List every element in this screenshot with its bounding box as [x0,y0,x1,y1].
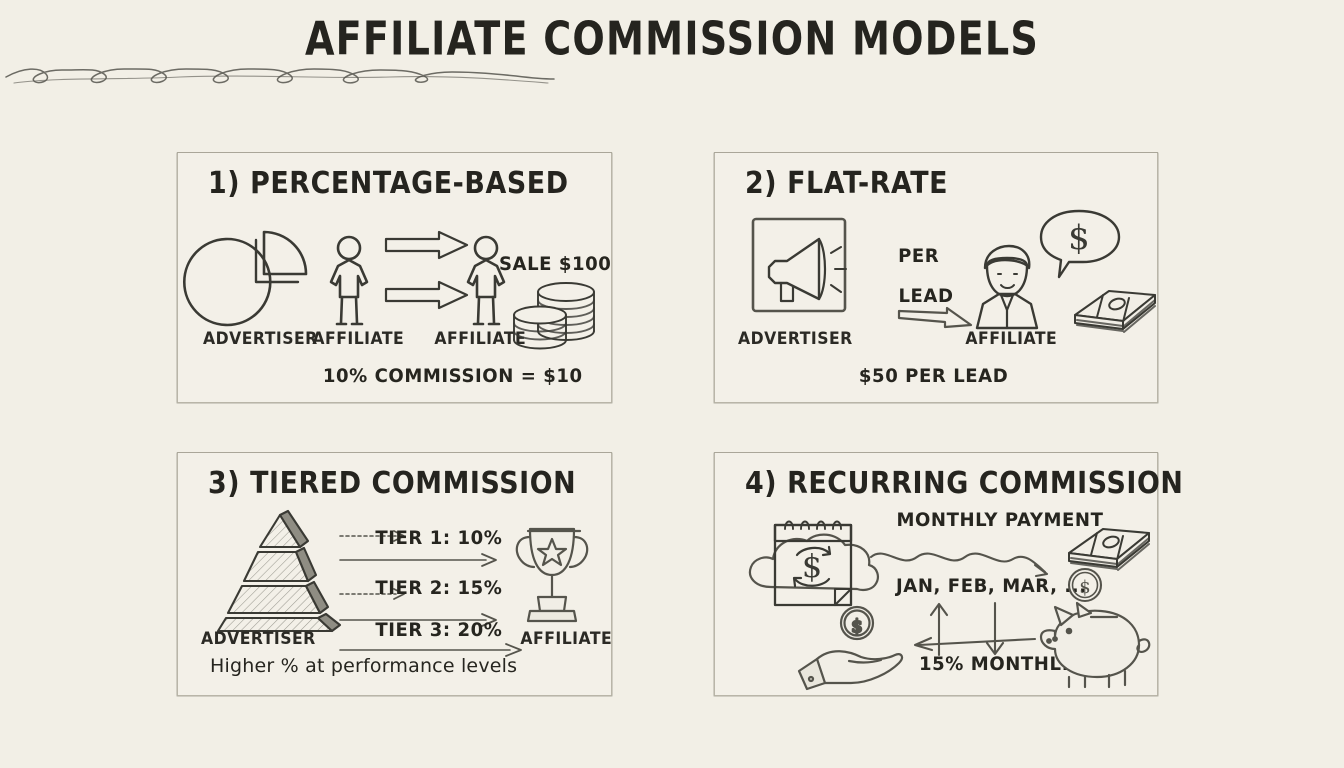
svg-text:$: $ [802,547,822,585]
label-months: JAN, FEB, MAR, ... [896,575,1087,597]
tier-2-label: TIER 2: 15% [375,577,502,599]
hand-coin-icon: $ [795,603,925,695]
person-icon [318,235,380,327]
footnote-flat-rate: $50 PER LEAD [859,365,1008,387]
arrow-right-icon [384,231,470,261]
panel-title: 4) RECURRING COMMISSION [745,465,1183,501]
pyramid-icon [216,511,366,633]
panel-percentage-based[interactable]: 1) PERCENTAGE-BASED ADVERTISER AFFILIATE [177,152,612,403]
panel-title: 1) PERCENTAGE-BASED [208,165,569,201]
person-bust-icon [963,238,1051,333]
panel-flat-rate[interactable]: 2) FLAT-RATE ADVERTISER PER LEAD [714,152,1158,403]
label-monthly-payment: MONTHLY PAYMENT [896,509,1103,531]
infographic-canvas: AFFILIATE COMMISSION MODELS 1) PERCENTAG… [0,0,1344,768]
label-sale-amount: SALE $100 [499,253,611,275]
arrow-down-icon [983,601,1007,657]
pie-chart-icon [198,216,318,326]
title-block: AFFILIATE COMMISSION MODELS [0,18,1344,89]
label-rate-monthly: 15% MONTHLY [919,653,1072,675]
label-lead: LEAD [898,285,953,307]
label-per: PER [898,245,939,267]
panel-recurring-commission[interactable]: 4) RECURRING COMMISSION $ MONT [714,452,1158,696]
label-advertiser: ADVERTISER [201,629,316,648]
dollar-speech-bubble-icon: $ [1033,205,1125,283]
arrow-up-icon [927,601,951,657]
page-title: AFFILIATE COMMISSION MODELS [47,15,1297,63]
tier-1-label: TIER 1: 10% [375,527,502,549]
svg-text:$: $ [851,616,862,637]
arrow-right-icon [384,281,470,311]
title-underline-squiggle [0,63,560,89]
megaphone-icon [747,213,859,323]
label-affiliate: AFFILIATE [965,329,1057,348]
panel-tiered-commission[interactable]: 3) TIERED COMMISSION ADVERTISER [177,452,612,696]
label-affiliate: AFFILIATE [520,629,612,648]
footnote-commission: 10% COMMISSION = $10 [323,365,583,387]
panel-title: 3) TIERED COMMISSION [208,465,576,501]
label-affiliate-right: AFFILIATE [434,329,526,348]
footnote-tiered: Higher % at performance levels [210,655,517,677]
tier-3-label: TIER 3: 20% [375,619,502,641]
svg-text:$: $ [1068,218,1090,258]
trophy-icon [506,515,598,627]
person-icon [455,235,517,327]
cloud-calendar-dollar-icon: $ [741,509,891,629]
cash-stack-icon [1067,273,1163,345]
label-advertiser: ADVERTISER [203,329,318,348]
panel-title: 2) FLAT-RATE [745,165,948,201]
label-advertiser: ADVERTISER [738,329,853,348]
arrow-left-icon [907,635,1039,651]
label-affiliate-left: AFFILIATE [312,329,404,348]
arrow-right-icon [897,305,975,337]
arrow-right-icon [338,553,500,567]
